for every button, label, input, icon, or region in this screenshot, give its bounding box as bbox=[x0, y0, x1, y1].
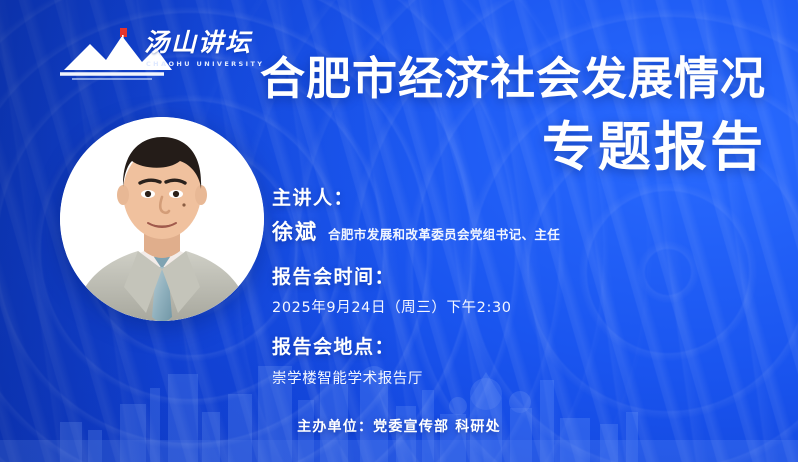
speaker-row: 徐斌 合肥市发展和改革委员会党组书记、主任 bbox=[272, 216, 742, 246]
speaker-portrait-avatar bbox=[60, 117, 264, 321]
time-value: 2025年9月24日（周三）下午2:30 bbox=[272, 296, 742, 317]
place-label: 报告会地点： bbox=[272, 335, 742, 361]
poster-headline: 合肥市经济社会发展情况 专题报告 bbox=[206, 56, 766, 175]
speaker-title: 合肥市发展和改革委员会党组书记、主任 bbox=[328, 224, 560, 243]
logo-name-zh: 汤山讲坛 bbox=[144, 30, 252, 55]
place-value: 崇学楼智能学术报告厅 bbox=[272, 367, 742, 388]
lecture-poster: 汤山讲坛 CHAOHU UNIVERSITY 合肥市经济社会发展情况 专题报告 bbox=[0, 0, 798, 462]
headline-line-1: 合肥市经济社会发展情况 bbox=[206, 56, 766, 102]
organizers-footer: 主办单位：党委宣传部 科研处 bbox=[0, 416, 798, 436]
speaker-label: 主讲人： bbox=[272, 186, 742, 212]
headline-line-2: 专题报告 bbox=[206, 121, 766, 175]
speaker-name: 徐斌 bbox=[272, 216, 318, 246]
time-label: 报告会时间： bbox=[272, 265, 742, 291]
lecture-info-block: 主讲人： 徐斌 合肥市发展和改革委员会党组书记、主任 报告会时间： 2025年9… bbox=[272, 186, 742, 388]
